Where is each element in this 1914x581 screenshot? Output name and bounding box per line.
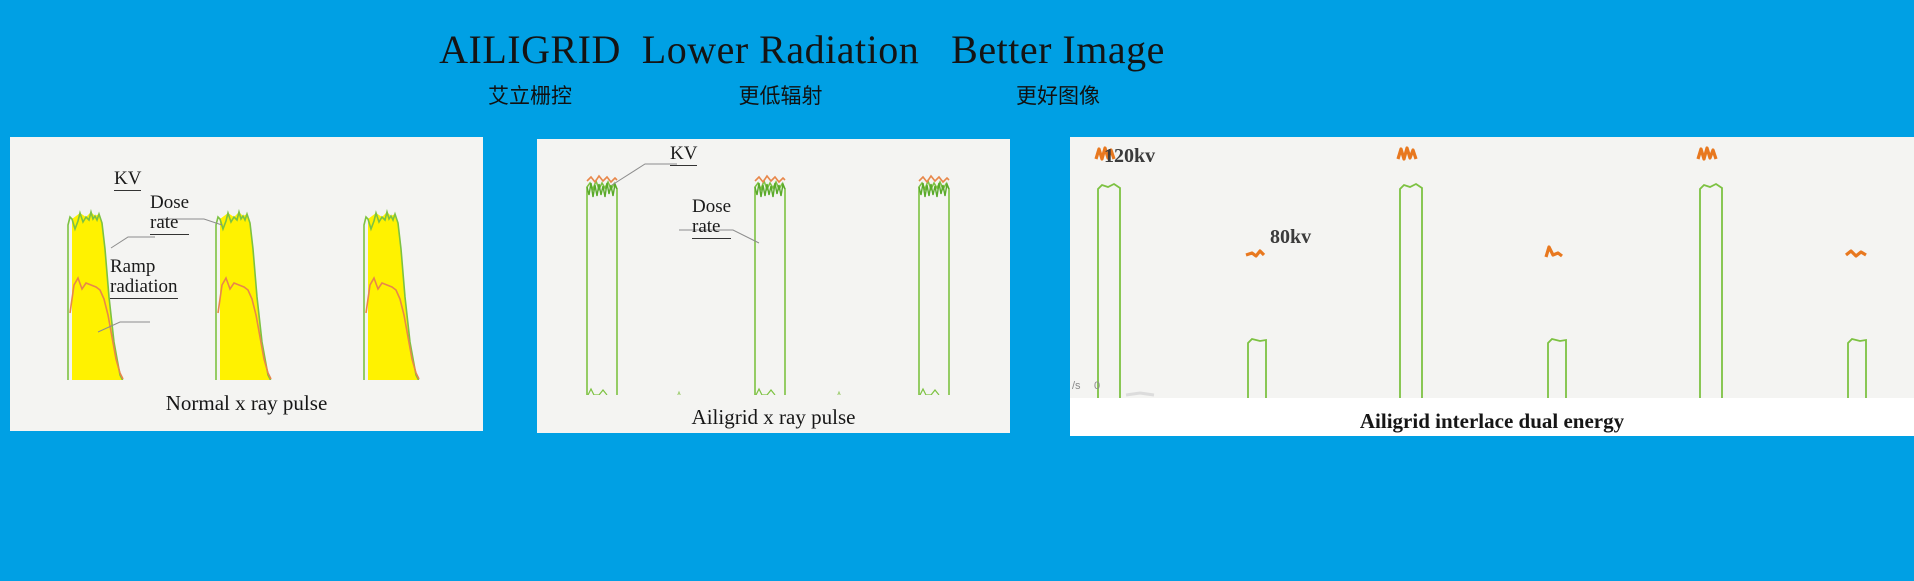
annotation-dose-rate: Dose rate [150,193,189,235]
dose-rate-square-2 [755,181,785,397]
dose-rate-square-3 [919,181,949,397]
header-title-cn-1: 更低辐射 [638,86,923,107]
kv-marker-120kv-3-icon [1698,148,1716,159]
header-banner: AILIGRID 艾立栅控 Lower Radiation 更低辐射 Bette… [0,0,1914,130]
chart-panel-ailigrid-x-ray-pulse: KV Dose rate [537,139,1010,433]
kv-square-3 [919,176,949,182]
kv-square-2 [755,176,785,182]
pulse-120kv-1 [1098,184,1120,399]
header-title-cn-0: 艾立栅控 [430,86,630,107]
axis-label-unit: /s [1072,380,1081,392]
chart-panel-interlace-dual-energy: 120kv 80kv /s 0 [1070,137,1914,433]
baseline-smudge [1126,393,1154,395]
kv-marker-80kv-legend-icon [1246,251,1264,256]
interlace-dual-energy-svg [1070,137,1914,433]
kv-leader-line [612,164,677,185]
caption-ailigrid-interlace-dual-energy: Ailigrid interlace dual energy [1070,409,1914,434]
axis-label-zero: 0 [1094,380,1100,392]
header-group-better-image: Better Image 更好图像 [938,30,1178,107]
annotation-kv: KV [114,169,141,191]
annotation-kv: KV [670,144,697,166]
header-title-cn-2: 更好图像 [938,86,1178,107]
plot-area-ailigrid [537,139,1010,433]
header-group-lower-radiation: Lower Radiation 更低辐射 [638,30,923,107]
legend-label-120kv: 120kv [1104,145,1155,168]
pulse-80kv-2 [1548,339,1566,399]
annotation-dose-rate: Dose rate [692,197,731,239]
kv-leader-line [111,237,155,248]
plot-area-interlace [1070,137,1914,433]
kv-square-1 [587,176,617,182]
header-group-ailigrid: AILIGRID 艾立栅控 [430,30,630,107]
header-title-en-2: Better Image [938,30,1178,70]
ailigrid-pulse-svg [537,139,1010,433]
pulse-80kv-3 [1848,339,1866,399]
caption-ailigrid-x-ray-pulse: Ailigrid x ray pulse [537,405,1010,430]
pulse-80kv-1 [1248,339,1266,399]
kv-marker-120kv-2-icon [1398,148,1416,159]
pulse-120kv-3 [1700,184,1722,399]
legend-label-80kv: 80kv [1270,226,1311,249]
pulse-120kv-2 [1400,184,1422,399]
kv-marker-80kv-2-icon [1546,247,1562,257]
header-title-en-1: Lower Radiation [638,30,923,70]
caption-normal-x-ray-pulse: Normal x ray pulse [10,391,483,416]
header-title-en-0: AILIGRID [430,30,630,70]
dose-rate-square-1 [587,181,617,397]
annotation-ramp-radiation: Ramp radiation [110,257,178,299]
kv-marker-80kv-3-icon [1846,251,1866,256]
